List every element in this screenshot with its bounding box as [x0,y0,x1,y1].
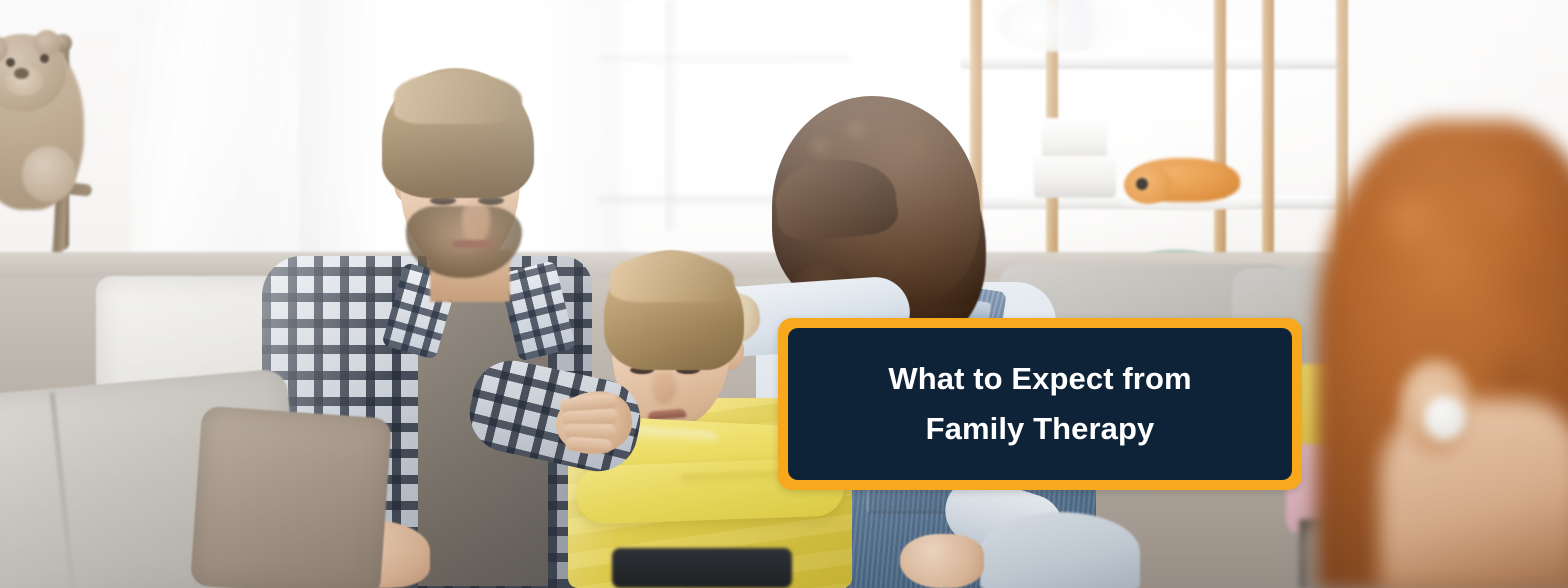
shelf-board [960,56,1340,69]
teddy-bear-eye-right [40,54,49,63]
father-hair-highlight [394,72,522,124]
shelf-post [1214,0,1226,280]
window-frame-horizontal [600,56,850,65]
stuffed-dog-head [1124,166,1172,204]
father-nose [462,200,490,244]
teddy-bear-eye-left [6,58,15,67]
title-callout: What to Expect from Family Therapy [778,318,1302,490]
scene-canvas: What to Expect from Family Therapy [0,0,1568,588]
storage-box [1042,118,1107,160]
boy-hair-fringe [610,254,734,302]
teddy-bear-paw [22,146,76,202]
title-callout-panel: What to Expect from Family Therapy [788,328,1292,480]
teddy-bear-nose [14,68,29,79]
shelf-post [1262,0,1274,280]
boy-jeans [612,548,792,588]
storage-box [1034,156,1116,198]
earbud-icon [1424,396,1466,440]
teddy-bear-ear-right [34,30,60,56]
boy-nose [652,372,676,404]
title-line-1: What to Expect from [888,356,1191,402]
mother-hand-in-lap [900,534,984,588]
stuffed-dog-eye [1136,178,1148,190]
sofa-cushion-taupe [190,406,392,588]
shelving-unit [940,0,1340,280]
father-mouth [452,240,494,248]
mother-knee [980,512,1140,588]
title-line-2: Family Therapy [926,406,1155,452]
